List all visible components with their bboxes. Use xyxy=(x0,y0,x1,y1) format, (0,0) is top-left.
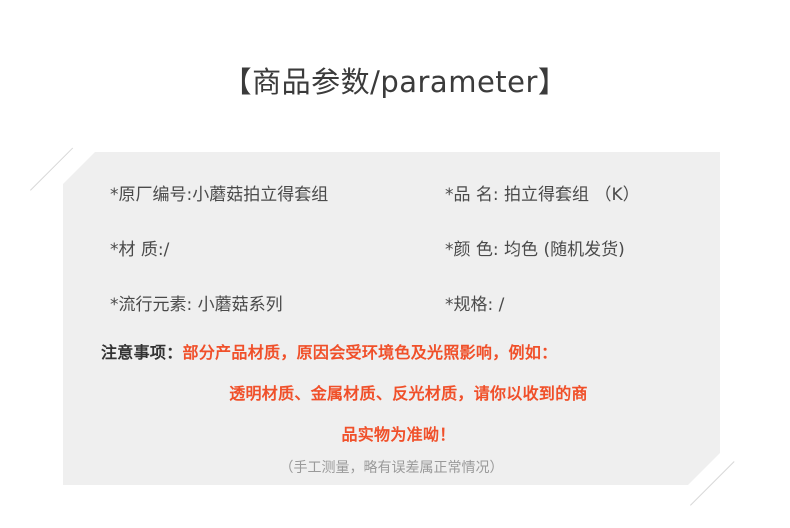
spec-table: *原厂编号:小蘑菇拍立得套组 *品 名: 拍立得套组 （K） *材 质:/ *颜… xyxy=(63,176,720,341)
notice-text-1: 部分产品材质，原因会受环境色及光照影响，例如： xyxy=(183,343,558,362)
spec-item-product-name: *品 名: 拍立得套组 （K） xyxy=(445,183,640,207)
spec-row: *原厂编号:小蘑菇拍立得套组 *品 名: 拍立得套组 （K） xyxy=(63,176,720,231)
measurement-note: （手工测量，略有误差属正常情况） xyxy=(63,457,720,479)
notice-line-3: 品实物为准呦！ xyxy=(63,414,720,455)
spec-row: *材 质:/ *颜 色: 均色 (随机发货) xyxy=(63,231,720,286)
notice-block: 注意事项：部分产品材质，原因会受环境色及光照影响，例如： 透明材质、金属材质、反… xyxy=(63,332,720,479)
notice-line-1: 注意事项：部分产品材质，原因会受环境色及光照影响，例如： xyxy=(63,332,720,373)
notice-line-2: 透明材质、金属材质、反光材质，请你以收到的商 xyxy=(63,373,720,414)
spec-item-factory-code: *原厂编号:小蘑菇拍立得套组 xyxy=(110,183,328,207)
spec-item-material: *材 质:/ xyxy=(110,238,169,262)
product-parameter-page: 【商品参数/parameter】 *原厂编号:小蘑菇拍立得套组 *品 名: 拍立… xyxy=(0,0,790,528)
spec-item-specification: *规格: / xyxy=(445,293,504,317)
page-title: 【商品参数/parameter】 xyxy=(0,62,790,102)
parameter-card: *原厂编号:小蘑菇拍立得套组 *品 名: 拍立得套组 （K） *材 质:/ *颜… xyxy=(63,152,720,485)
notice-label: 注意事项： xyxy=(101,343,183,362)
spec-item-color: *颜 色: 均色 (随机发货) xyxy=(445,238,625,262)
spec-item-trend-element: *流行元素: 小蘑菇系列 xyxy=(110,293,283,317)
